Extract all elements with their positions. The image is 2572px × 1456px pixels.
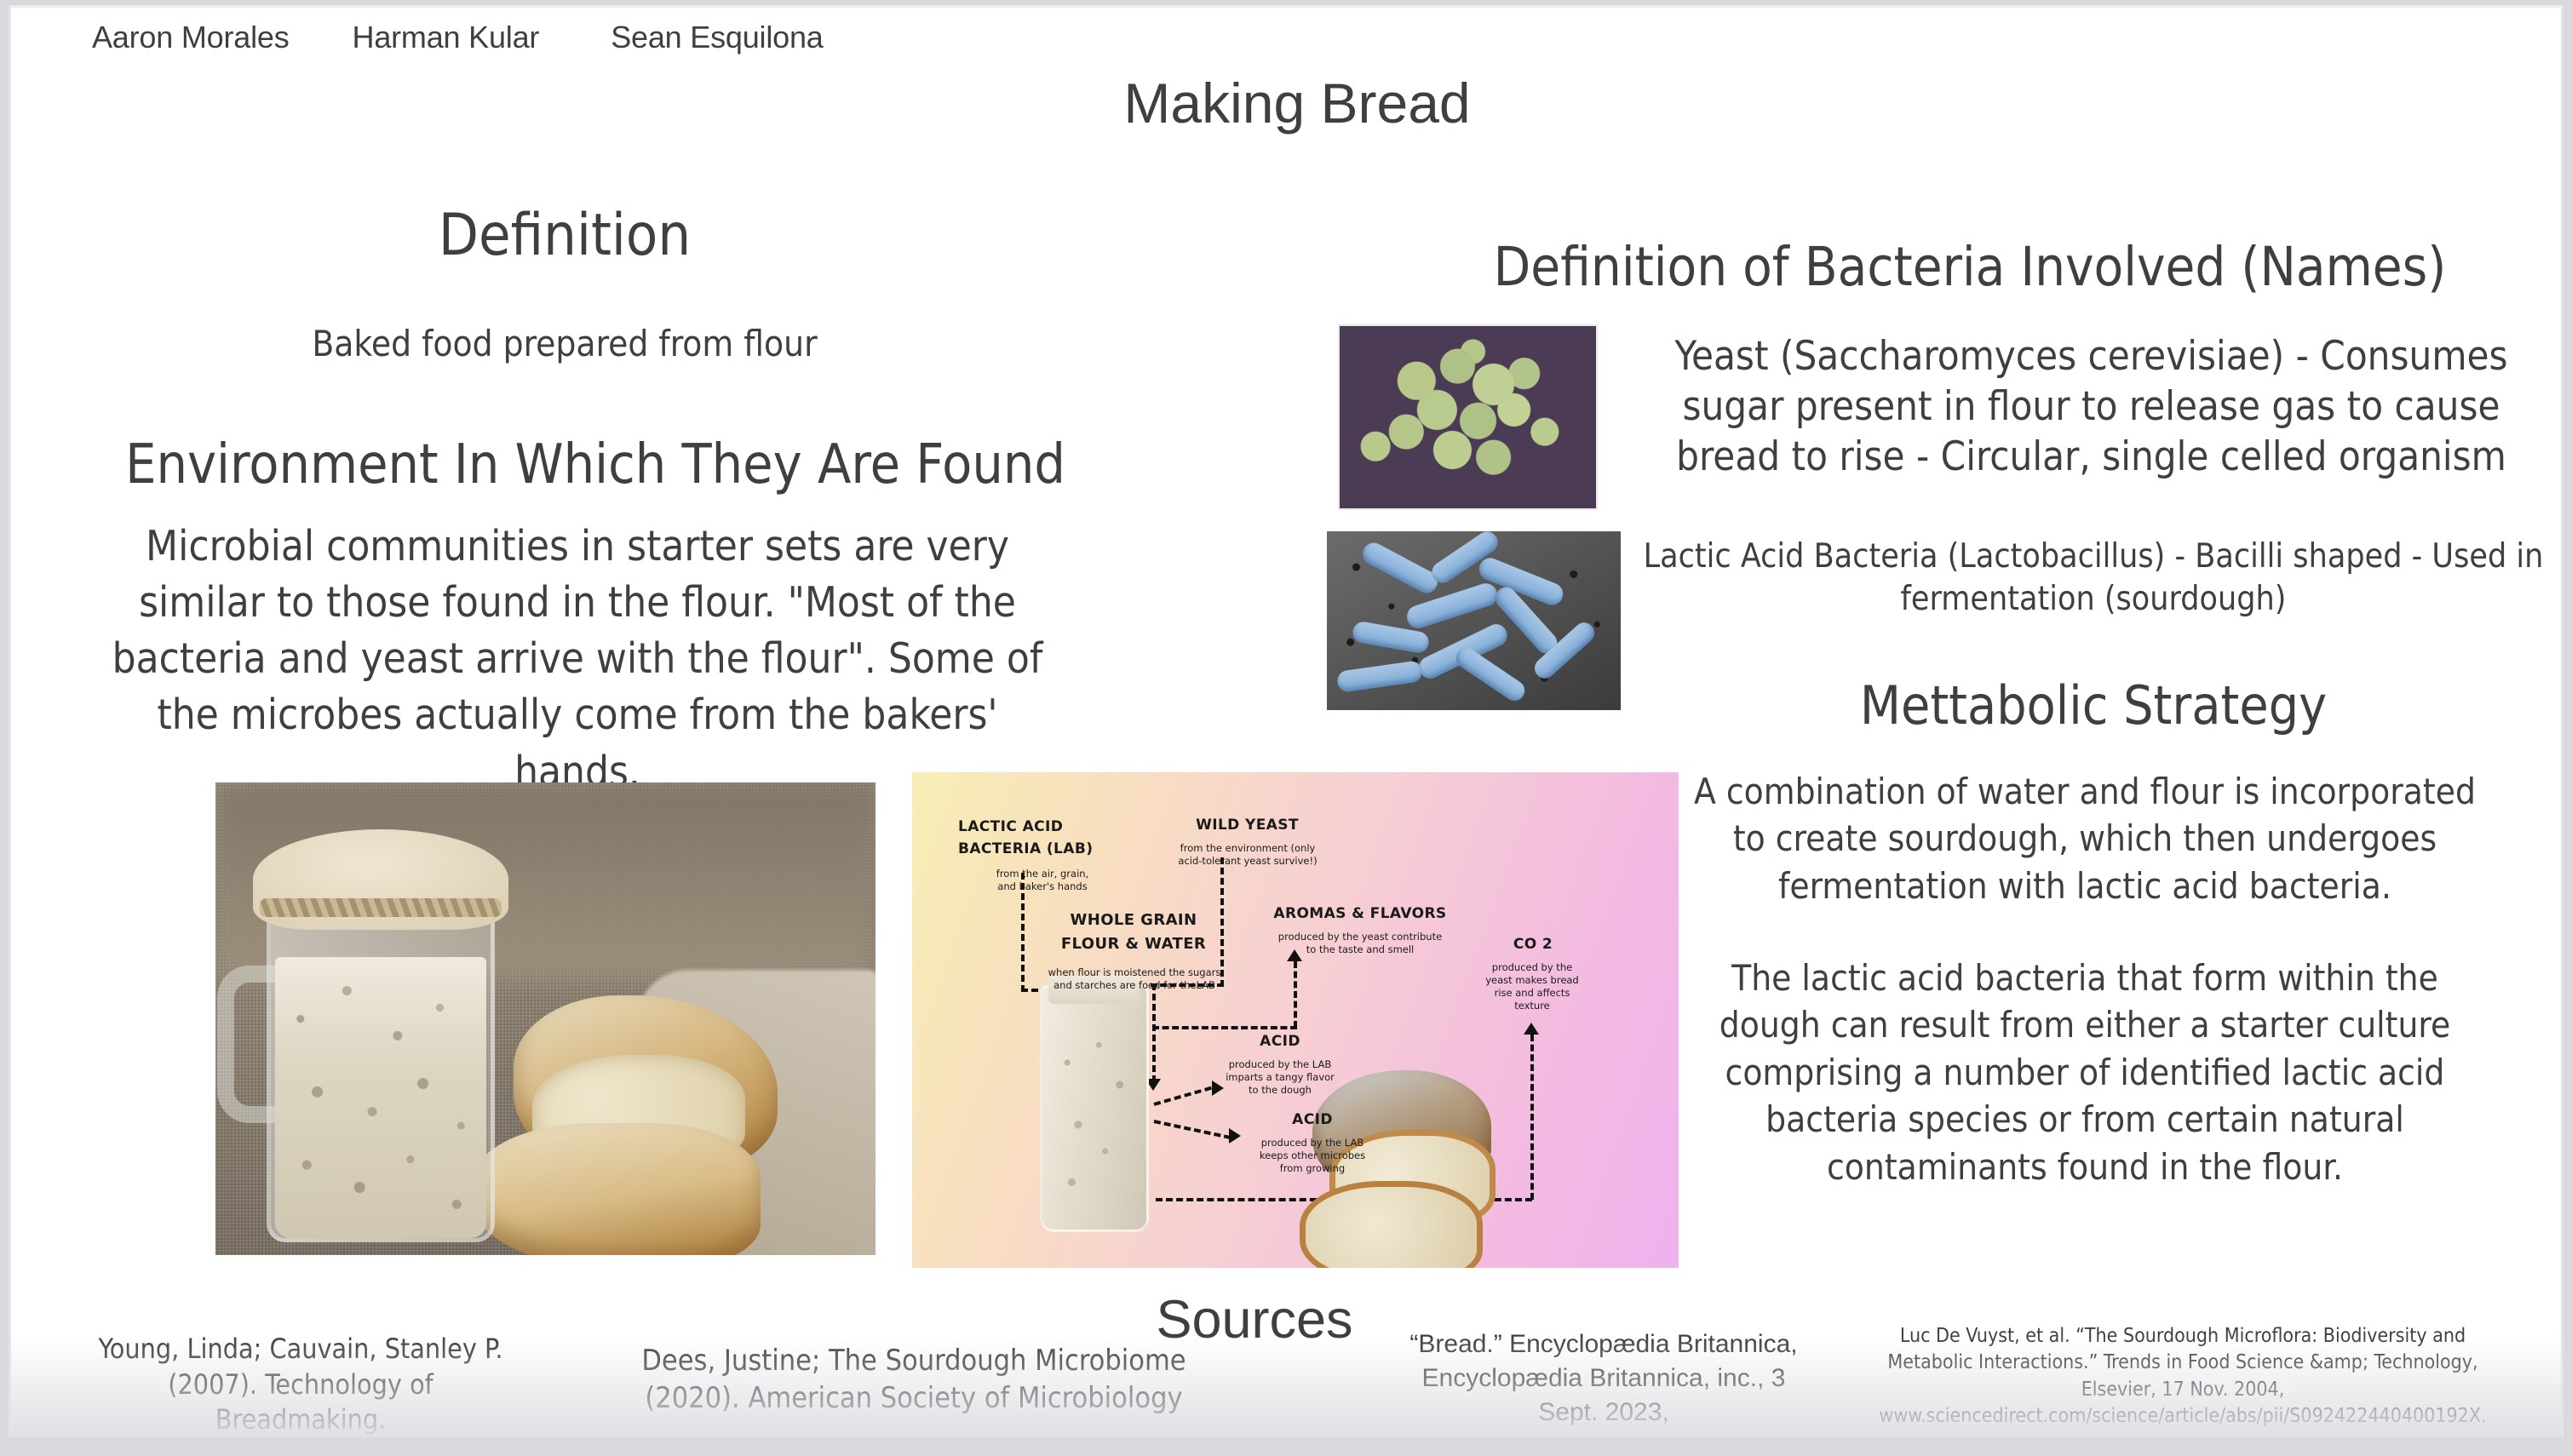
acid-caption-2: produced by the LAB keeps other microbes… — [1236, 1137, 1389, 1175]
author-list: Aaron Morales Harman Kular Sean Esquilon… — [92, 20, 824, 55]
sourdough-process-infographic: LACTIC ACID BACTERIA (LAB) from the air,… — [912, 772, 1679, 1268]
author-name-1: Aaron Morales — [92, 20, 290, 55]
flow-line-acid-1 — [1153, 1086, 1211, 1106]
sourdough-starter-photo — [215, 782, 876, 1255]
environment-heading: Environment In Which They Are Found — [93, 433, 1098, 496]
yeast-cells — [1340, 326, 1596, 508]
lactobacillus-micrograph — [1327, 531, 1621, 710]
co2-caption: produced by the yeast makes bread rise a… — [1464, 961, 1600, 1012]
metabolic-text-1: A combination of water and flour is inco… — [1689, 768, 2481, 909]
infographic-starter-jar — [1040, 985, 1149, 1232]
slide-canvas: Aaron Morales Harman Kular Sean Esquilon… — [9, 5, 2563, 1437]
aromas-title: AROMAS & FLAVORS — [1258, 905, 1462, 922]
environment-text: Microbial communities in starter sets ar… — [105, 519, 1050, 800]
acid-caption-1: produced by the LAB imparts a tangy flav… — [1205, 1058, 1355, 1097]
definition-heading: Definition — [11, 202, 1118, 269]
acid-title-1: ACID — [1220, 1033, 1340, 1050]
flow-line-co2-up — [1530, 1035, 1534, 1200]
acid-title-2: ACID — [1253, 1111, 1372, 1128]
wild-yeast-title: WILD YEAST — [1173, 817, 1322, 834]
twine-tie — [260, 898, 502, 917]
flour-water-title: WHOLE GRAIN FLOUR & WATER — [1040, 909, 1227, 956]
aromas-caption: produced by the yeast contribute to the … — [1251, 931, 1469, 956]
metabolic-strategy-heading: Mettabolic Strategy — [1642, 674, 2545, 737]
bread-loaf-lower — [471, 1123, 761, 1255]
definition-text: Baked food prepared from flour — [11, 323, 1118, 364]
wild-yeast-caption: from the environment (only acid-tolerant… — [1154, 842, 1341, 868]
metabolic-text-2: The lactic acid bacteria that form withi… — [1680, 954, 2489, 1190]
author-name-3: Sean Esquilona — [611, 20, 823, 55]
fermentation-bubbles — [275, 957, 486, 1238]
slide-title: Making Bread — [11, 71, 2563, 135]
flow-line-to-aromas — [1152, 1026, 1297, 1029]
lactobacillus-description: Lactic Acid Bacteria (Lactobacillus) - B… — [1642, 536, 2545, 622]
flow-line-acid-2 — [1154, 1120, 1231, 1139]
yeast-description: Yeast (Saccharomyces cerevisiae) - Consu… — [1633, 331, 2549, 483]
yeast-micrograph — [1338, 324, 1598, 510]
source-citation-3: “Bread.” Encyclopædia Britannica, Encycl… — [1391, 1327, 1817, 1437]
source-citation-4: Luc De Vuyst, et al. “The Sourdough Micr… — [1876, 1323, 2489, 1430]
starter-culture — [275, 957, 486, 1238]
arrow-up-icon — [1524, 1023, 1539, 1035]
bacteria-heading: Definition of Bacteria Involved (Names) — [1391, 236, 2549, 298]
source-citation-1: Young, Linda; Cauvain, Stanley P. (2007)… — [79, 1332, 522, 1437]
lab-label-caption: from the air, grain, and baker's hands — [962, 868, 1123, 893]
infographic-bread-slice-2 — [1300, 1181, 1483, 1268]
co2-title: CO 2 — [1478, 936, 1588, 953]
lab-label-title: LACTIC ACID BACTERIA (LAB) — [958, 817, 1141, 860]
infographic-jar-bubbles — [1049, 996, 1140, 1218]
source-citation-2: Dees, Justine; The Sourdough Microbiome … — [590, 1342, 1237, 1417]
flour-water-caption: when flour is moistened the sugars and s… — [1021, 966, 1248, 992]
flow-line-aromas-up — [1294, 961, 1297, 1028]
flow-line-yeast-down — [1152, 983, 1156, 1082]
author-name-2: Harman Kular — [353, 20, 540, 55]
